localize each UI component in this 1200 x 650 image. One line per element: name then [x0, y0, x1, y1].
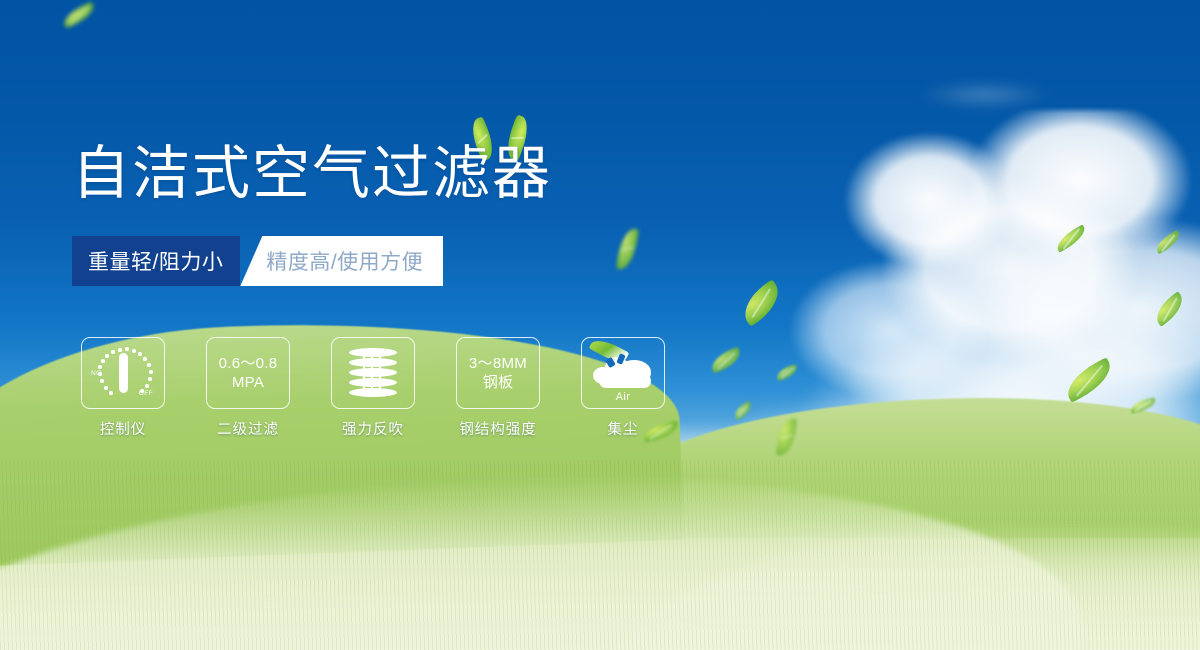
filter-cartridge-icon — [349, 346, 397, 400]
subtitle-right-text: 精度高/使用方便 — [262, 236, 443, 286]
floating-leaf — [616, 227, 639, 271]
floating-leaf — [1153, 230, 1183, 254]
floating-leaf — [1053, 224, 1089, 252]
pressure-value-line2: MPA — [232, 373, 264, 392]
gauge-on-label: NO — [91, 370, 102, 377]
feature-label: 钢结构强度 — [456, 418, 540, 439]
feature-label: 集尘 — [581, 418, 665, 439]
product-banner: 自洁式空气过滤器 重量轻/阻力小 精度高/使用方便 — [0, 0, 1200, 650]
subtitle-bar: 重量轻/阻力小 精度高/使用方便 — [72, 236, 443, 286]
feature-icon-box: 0.6～0.8 MPA — [206, 337, 290, 409]
gauge-dial-icon: NO OFF — [92, 346, 154, 400]
floating-leaf — [775, 364, 799, 381]
feature-icon-box: 3～8MM 钢板 — [456, 337, 540, 409]
feature-icon-box: NO OFF — [81, 337, 165, 409]
feature-label: 二级过滤 — [206, 418, 290, 439]
steel-thickness-line2: 钢板 — [483, 373, 514, 392]
gauge-needle — [119, 353, 128, 393]
cloud-air-icon: Air — [591, 345, 655, 401]
floating-leaf — [732, 401, 755, 421]
pressure-value-line1: 0.6～0.8 — [219, 354, 278, 373]
floating-leaf — [736, 279, 788, 326]
feature-label: 强力反吹 — [331, 418, 415, 439]
floating-leaf — [1150, 291, 1189, 327]
feature-item-steel-structure[interactable]: 3～8MM 钢板 钢结构强度 — [456, 337, 540, 439]
subtitle-slant-divider — [240, 236, 262, 286]
gauge-off-label: OFF — [139, 390, 153, 397]
feature-label: 控制仪 — [81, 418, 165, 439]
cloud-base — [599, 374, 651, 388]
steel-thickness-line1: 3～8MM — [469, 354, 527, 373]
cloud-cumulus-right — [780, 110, 1200, 440]
floating-leaf — [708, 347, 744, 374]
banner-title: 自洁式空气过滤器 — [72, 140, 552, 206]
feature-icon-box: Air — [581, 337, 665, 409]
air-label: Air — [591, 391, 655, 403]
feature-item-dust-collection[interactable]: Air 集尘 — [581, 337, 665, 439]
title-block: 自洁式空气过滤器 — [72, 140, 552, 206]
grass-texture — [0, 460, 1200, 650]
floating-leaf — [1060, 357, 1117, 403]
feature-item-controller[interactable]: NO OFF 控制仪 — [81, 337, 165, 439]
subtitle-left-text: 重量轻/阻力小 — [72, 236, 240, 286]
floating-leaf — [61, 2, 98, 29]
feature-item-strong-backwash[interactable]: 强力反吹 — [331, 337, 415, 439]
feature-item-two-stage-filter[interactable]: 0.6～0.8 MPA 二级过滤 — [206, 337, 290, 439]
feature-icon-box — [331, 337, 415, 409]
cloud-wisp-top-right — [900, 70, 1070, 120]
